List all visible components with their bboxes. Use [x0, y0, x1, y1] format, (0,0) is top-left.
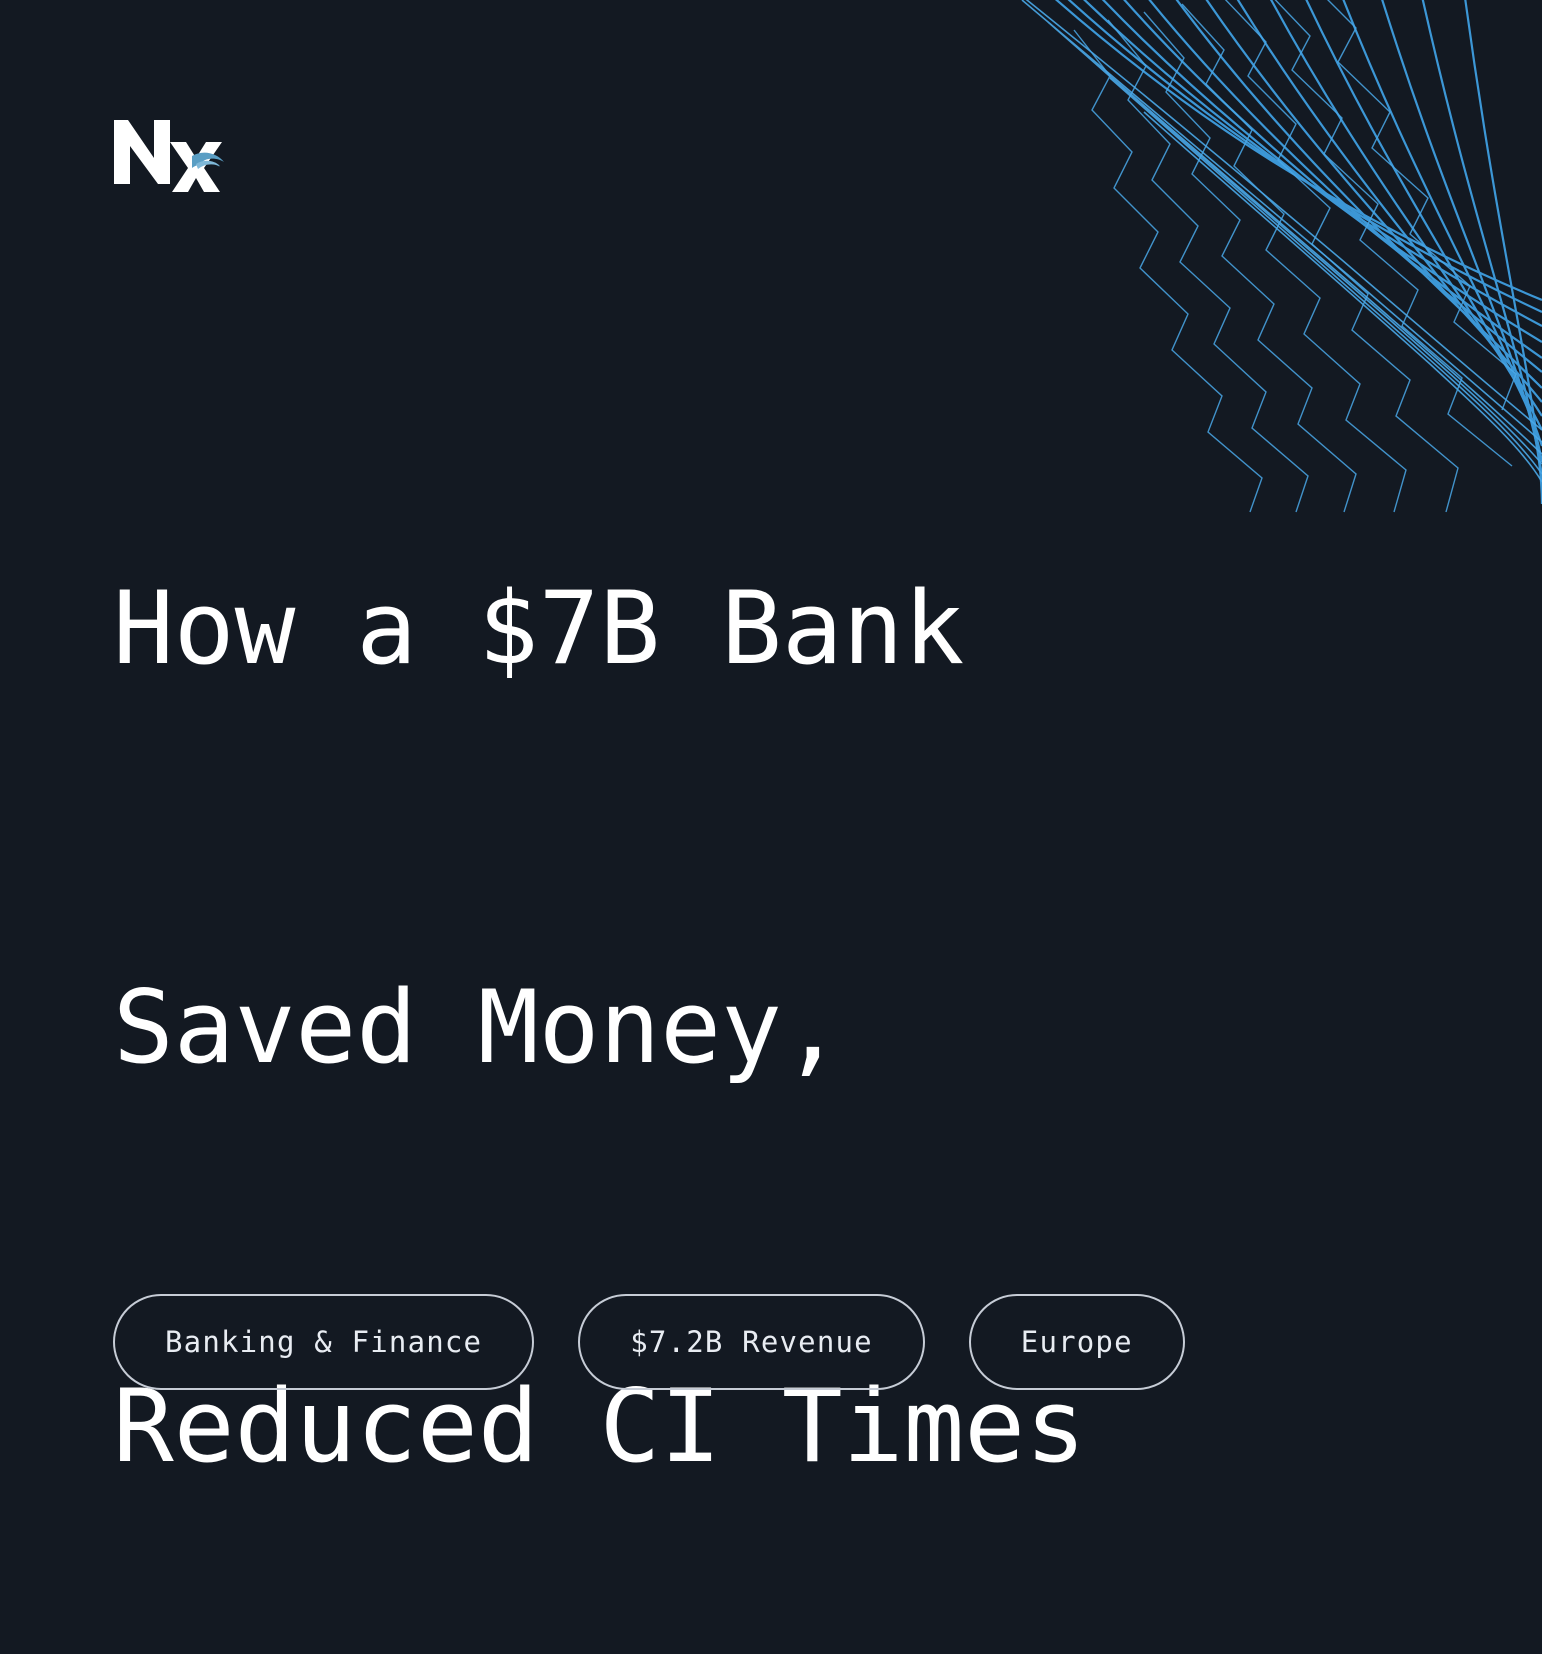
tag-region[interactable]: Europe — [969, 1294, 1185, 1390]
tag-list: Banking & Finance $7.2B Revenue Europe — [113, 1294, 1185, 1390]
headline-line-1: How a $7B Bank — [113, 562, 1433, 695]
tag-revenue[interactable]: $7.2B Revenue — [578, 1294, 925, 1390]
headline-line-2: Saved Money, — [113, 961, 1433, 1094]
page-title: How a $7B Bank Saved Money, Reduced CI T… — [113, 296, 1433, 1654]
nx-logo — [108, 112, 236, 192]
case-study-hero-card: How a $7B Bank Saved Money, Reduced CI T… — [0, 0, 1542, 1654]
tag-industry[interactable]: Banking & Finance — [113, 1294, 534, 1390]
